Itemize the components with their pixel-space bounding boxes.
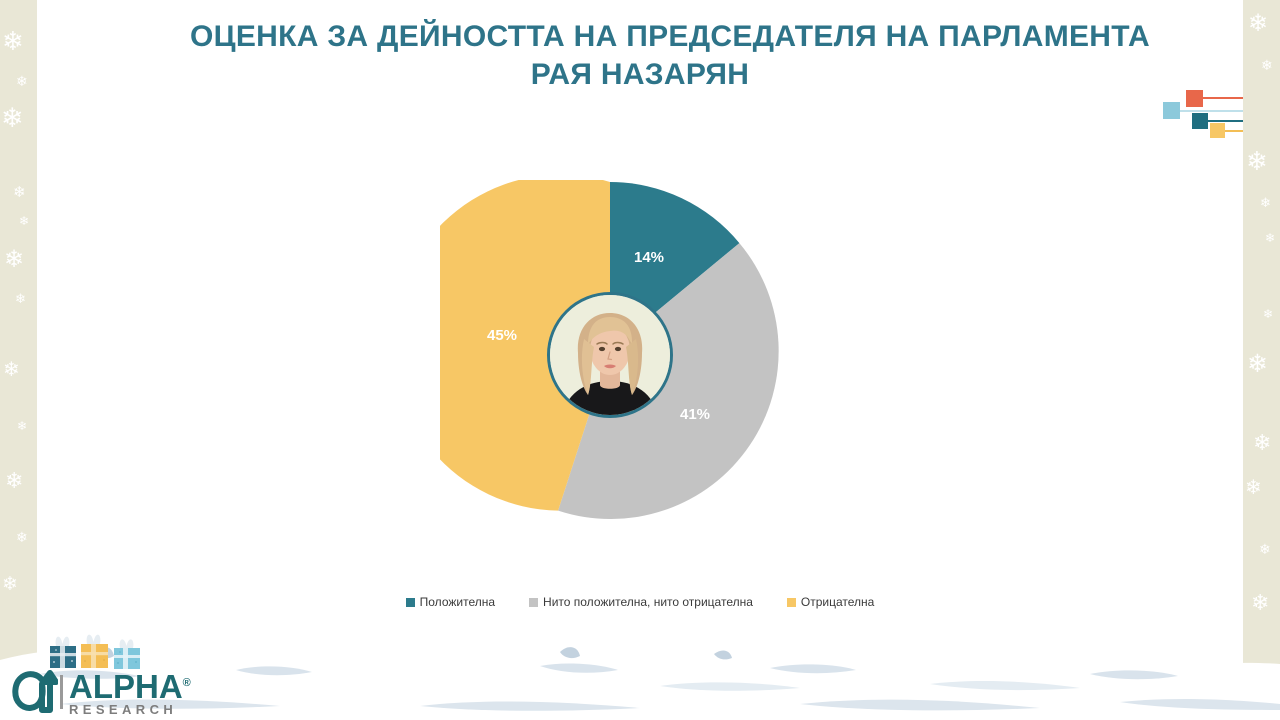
teal-line xyxy=(1206,120,1243,122)
legend-swatch-icon xyxy=(787,598,796,607)
logo-divider xyxy=(60,675,63,709)
slide-root: ❄ ❄ ❄ ❄ ❄ ❄ ❄ ❄ ❄ ❄ ❄ ❄ ❄ ❄ ❄ ❄ ❄ ❄ ❄ ❄ … xyxy=(0,0,1280,720)
snowflake-icon: ❄ xyxy=(16,530,28,544)
gift-light-blue-icon xyxy=(114,639,140,669)
legend-label: Отрицателна xyxy=(801,595,874,609)
snow-landscape xyxy=(0,630,1280,720)
legend-item-positive[interactable]: Положителна xyxy=(406,595,495,609)
snowflake-icon: ❄ xyxy=(1253,432,1271,454)
legend-item-negative[interactable]: Отрицателна xyxy=(787,595,874,609)
logo-name-text: ALPHA xyxy=(69,668,183,705)
logo-name: ALPHA® xyxy=(69,668,191,702)
teal-square xyxy=(1192,113,1208,129)
light-blue-square xyxy=(1163,102,1180,119)
legend-item-neutral[interactable]: Нито положителна, нито отрицателна xyxy=(529,595,753,609)
snowflake-icon: ❄ xyxy=(1265,232,1275,244)
snowflake-icon: ❄ xyxy=(1263,308,1273,320)
snowflake-icon: ❄ xyxy=(19,215,29,227)
gift-dark-teal-icon xyxy=(50,637,76,668)
chart-legend: Положителна Нито положителна, нито отриц… xyxy=(0,595,1280,609)
coral-line xyxy=(1200,97,1243,99)
legend-swatch-icon xyxy=(406,598,415,607)
snowflake-icon: ❄ xyxy=(15,292,26,305)
snowflake-icon: ❄ xyxy=(3,360,20,380)
coral-square xyxy=(1186,90,1203,107)
logo-text: ALPHA® RESEARCH xyxy=(69,668,191,717)
legend-label: Положителна xyxy=(420,595,495,609)
snowflake-icon: ❄ xyxy=(1247,352,1268,377)
light-blue-line xyxy=(1178,110,1243,112)
snowflake-icon: ❄ xyxy=(5,470,23,492)
alpha-arrow-mark-icon xyxy=(12,670,58,714)
snowflake-icon: ❄ xyxy=(4,248,24,272)
portrait-image xyxy=(550,295,670,415)
snow-svg xyxy=(0,630,1280,720)
gift-amber-icon xyxy=(81,635,108,668)
legend-label: Нито положителна, нито отрицателна xyxy=(543,595,753,609)
corner-decoration xyxy=(0,0,1280,200)
pie-label-neutral: 41% xyxy=(680,406,710,423)
pie-label-positive: 14% xyxy=(634,249,664,266)
snowflake-icon: ❄ xyxy=(1245,478,1262,498)
snowflake-icon: ❄ xyxy=(17,420,27,432)
snowflake-icon: ❄ xyxy=(2,575,18,594)
amber-square xyxy=(1210,123,1225,138)
legend-swatch-icon xyxy=(529,598,538,607)
amber-line xyxy=(1223,130,1243,132)
avatar xyxy=(547,292,673,418)
snowflake-icon: ❄ xyxy=(1259,542,1271,556)
registered-icon: ® xyxy=(183,677,191,689)
pie-label-negative: 45% xyxy=(487,327,517,344)
brand-logo: ALPHA® RESEARCH xyxy=(12,668,191,716)
